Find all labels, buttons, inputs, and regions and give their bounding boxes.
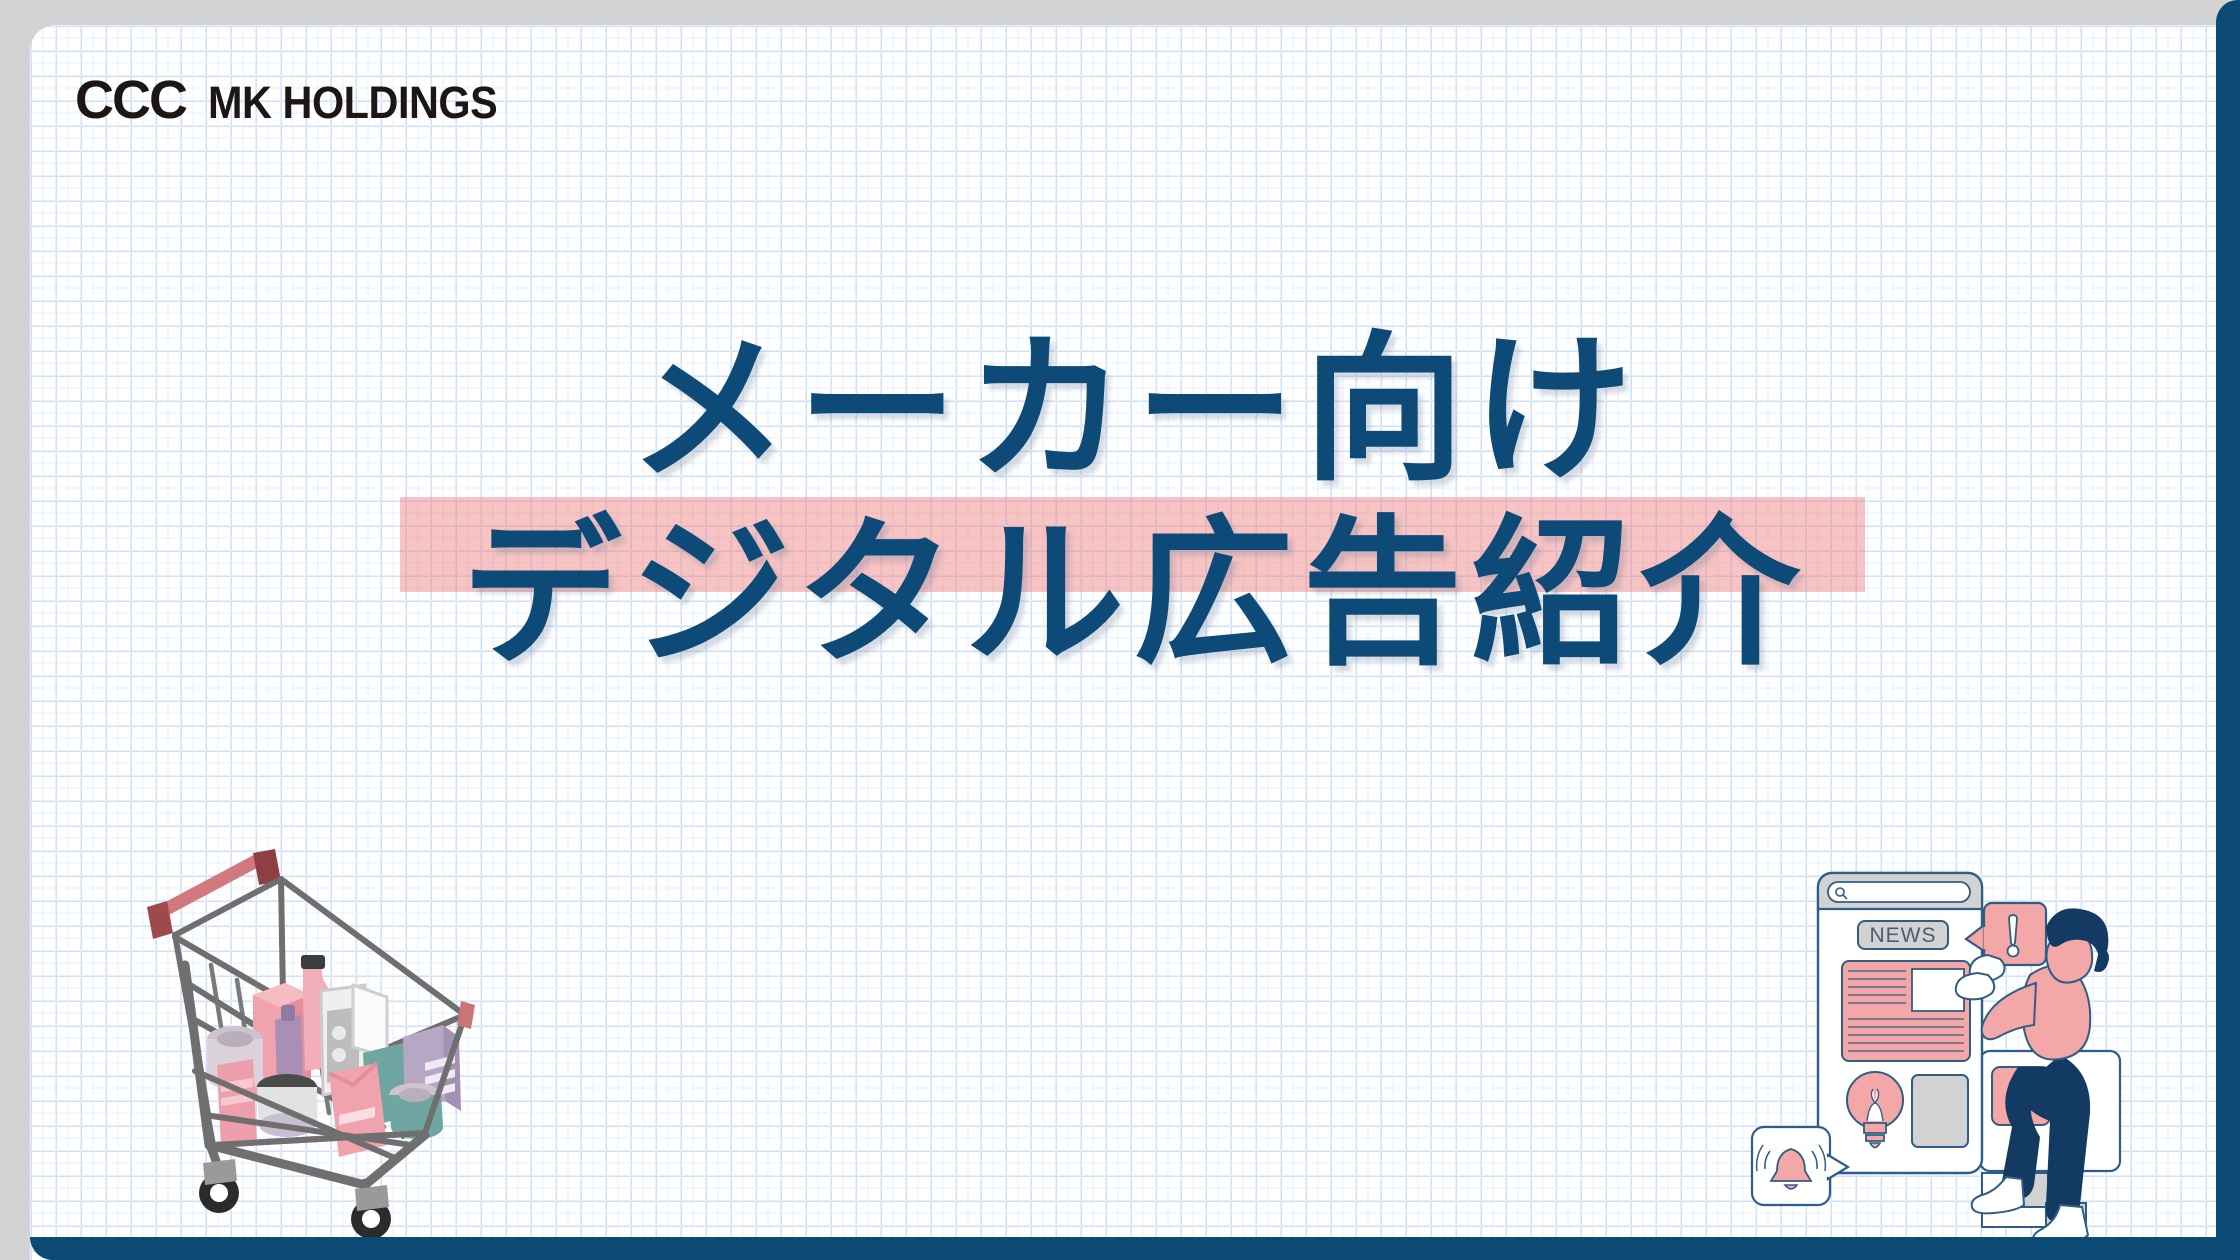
cart-handle-bar <box>155 859 260 915</box>
page-title: メーカー向け デジタル広告紹介 <box>30 325 2240 678</box>
title-line-1: メーカー向け <box>30 325 2240 495</box>
brand-logo: CCC MK HOLDINGS <box>75 69 523 131</box>
exclamation-mark-icon <box>2009 915 2017 945</box>
person-hand-lower <box>1956 973 1995 999</box>
search-input[interactable] <box>1828 882 1970 902</box>
slide-card: CCC MK HOLDINGS メーカー向け デジタル広告紹介 <box>30 25 2240 1260</box>
bottom-accent-bar <box>30 1237 2240 1260</box>
news-badge-label: NEWS <box>1870 924 1937 947</box>
shopping-cart-illustration <box>125 815 505 1235</box>
media-tile <box>1912 1075 1968 1147</box>
logo-mk-holdings-text: MK HOLDINGS <box>208 77 497 129</box>
title-line-2: デジタル広告紹介 <box>30 509 2240 679</box>
logo-ccc-text: CCC <box>75 69 186 131</box>
digital-ad-illustration: NEWS <box>1730 855 2170 1255</box>
